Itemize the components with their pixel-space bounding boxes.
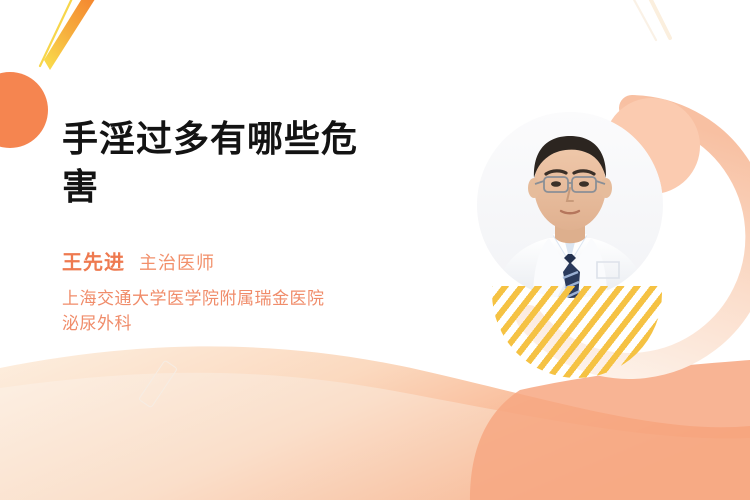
doctor-byline: 王先进 主治医师	[62, 246, 215, 275]
cream-diagonal-strokes	[626, 0, 686, 50]
affiliation-hospital: 上海交通大学医学院附属瑞金医院	[62, 287, 412, 312]
affiliation-department: 泌尿外科	[62, 312, 412, 337]
doctor-info-card: 手淫过多有哪些危 害 王先进 主治医师 上海交通大学医学院附属瑞金医院 泌尿外科	[0, 0, 750, 500]
yellow-striped-halfcircle	[492, 286, 662, 378]
page-title: 手淫过多有哪些危 害	[62, 116, 412, 212]
outlined-diagonal-bar	[138, 360, 178, 409]
doctor-affiliation: 上海交通大学医学院附属瑞金医院 泌尿外科	[62, 287, 412, 337]
orange-circle	[0, 72, 48, 148]
diagonal-ribbon-strokes	[0, 0, 140, 76]
title-line-1: 手淫过多有哪些危	[62, 116, 412, 164]
doctor-name: 王先进	[62, 246, 125, 275]
bottom-peach-wave	[0, 330, 750, 500]
title-line-2: 害	[62, 164, 412, 212]
doctor-portrait	[477, 112, 663, 298]
doctor-rank: 主治医师	[139, 249, 215, 275]
